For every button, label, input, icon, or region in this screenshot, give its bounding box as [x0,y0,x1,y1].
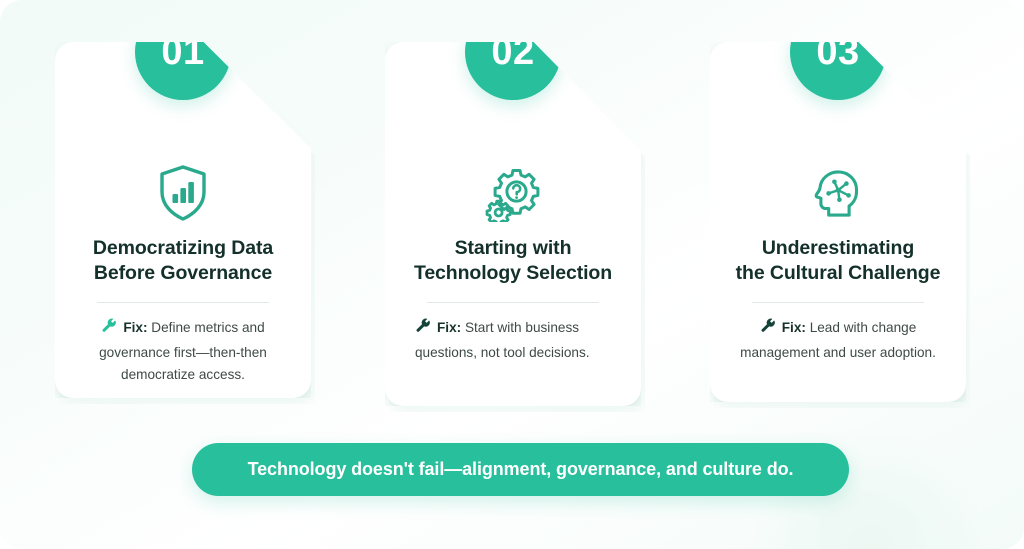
divider [752,302,924,303]
cards-row: 01 Democratizing Data Before Governance [55,42,967,408]
card-01[interactable]: 01 Democratizing Data Before Governance [55,42,311,398]
fix-label: Fix: [782,320,806,335]
fix-note: Fix: Lead with change management and use… [728,317,948,364]
gears-question-icon [403,162,623,224]
infographic-canvas: 01 Democratizing Data Before Governance [0,0,1024,549]
divider [97,302,269,303]
shield-bar-chart-icon [73,162,293,224]
card-03[interactable]: 03 Underestimating the Cultural Challeng… [710,42,966,402]
card-02[interactable]: 02 Starting with Technology Selection [385,42,641,406]
summary-banner-text: Technology doesn't fail—alignment, gover… [248,459,794,480]
card-title-line-1: Starting with [455,237,572,259]
card-title-line-1: Underestimating [762,237,914,259]
card-title-line-2: Technology Selection [414,262,612,284]
card-title-line-2: the Cultural Challenge [736,262,941,284]
card-title: Democratizing Data Before Governance [73,236,293,286]
card-title: Starting with Technology Selection [403,236,623,286]
wrench-icon [760,318,777,342]
fix-label: Fix: [123,320,147,335]
head-network-icon [728,162,948,224]
wrench-icon [101,318,118,342]
fix-note: Fix: Start with business questions, not … [403,317,623,364]
card-title: Underestimating the Cultural Challenge [728,236,948,286]
step-number-badge: 03 [790,4,886,100]
card-title-line-2: Before Governance [94,262,272,284]
summary-banner: Technology doesn't fail—alignment, gover… [192,443,849,496]
wrench-icon [415,318,432,342]
step-number-badge: 01 [135,4,231,100]
fix-note: Fix: Define metrics and governance first… [73,317,293,386]
card-title-line-1: Democratizing Data [93,237,273,259]
fix-label: Fix: [437,320,461,335]
divider [427,302,599,303]
step-number-badge: 02 [465,4,561,100]
